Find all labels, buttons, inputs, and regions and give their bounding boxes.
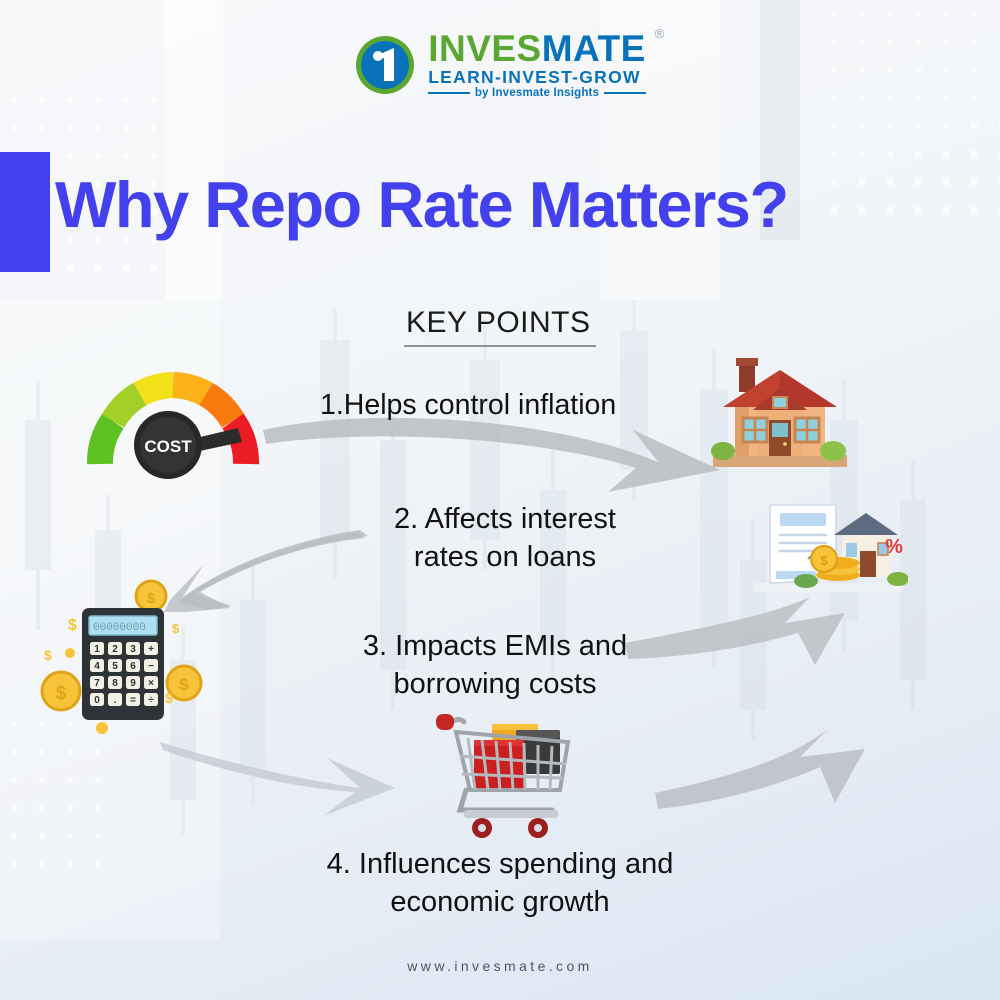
- calculator-key: ÷: [148, 695, 154, 706]
- calculator-key: 0: [94, 695, 100, 706]
- calculator-key: .: [114, 695, 117, 706]
- calculator-key: =: [130, 695, 136, 706]
- calculator-key: 5: [112, 661, 118, 672]
- calculator-key: 9: [130, 678, 136, 689]
- section-heading: KEY POINTS: [406, 306, 591, 340]
- section-heading-underline: [404, 345, 596, 347]
- svg-text:$: $: [56, 683, 67, 704]
- calculator-key: 1: [94, 644, 100, 655]
- svg-text:$: $: [68, 617, 77, 634]
- calculator-icon: $ $ $ $ $ $ $ 00000000: [32, 578, 212, 738]
- cost-gauge-icon: COST: [78, 356, 268, 481]
- title-accent-bar: [0, 152, 50, 272]
- calculator-key: 7: [94, 678, 100, 689]
- shopping-cart-icon: [420, 706, 590, 846]
- calculator-key: 6: [130, 661, 136, 672]
- percent-symbol: %: [885, 536, 903, 558]
- svg-text:$: $: [147, 590, 156, 607]
- calculator-key: +: [148, 644, 154, 655]
- infographic-poster: INVESMATE® LEARN-INVEST-GROW by Invesmat…: [0, 0, 1000, 1000]
- registered-trademark-icon: ®: [655, 27, 665, 40]
- svg-text:$: $: [165, 690, 173, 706]
- page-title: Why Repo Rate Matters?: [55, 167, 788, 242]
- calculator-key: 3: [130, 644, 136, 655]
- svg-text:$: $: [172, 621, 180, 636]
- footer-website-url: www.invesmate.com: [0, 958, 1000, 974]
- logo-subtagline: by Invesmate Insights: [475, 87, 599, 99]
- arrow-right-bottom-icon: [650, 715, 880, 825]
- rule-left: [428, 92, 470, 94]
- gauge-label: COST: [144, 437, 192, 456]
- house-icon: [705, 352, 855, 477]
- brand-logo: INVESMATE® LEARN-INVEST-GROW by Invesmat…: [0, 30, 1000, 99]
- key-point-4-text: 4. Influences spending and economic grow…: [285, 845, 715, 922]
- logo-wordmark: INVESMATE®: [428, 30, 646, 67]
- key-point-1-text: 1.Helps control inflation: [320, 387, 616, 425]
- calculator-key: ×: [148, 678, 154, 689]
- calculator-key: −: [148, 661, 154, 672]
- key-point-2-text: 2. Affects interest rates on loans: [360, 500, 650, 577]
- logo-tagline: LEARN-INVEST-GROW: [428, 67, 646, 87]
- calculator-display: 00000000: [93, 622, 146, 634]
- loan-document-icon: $ %: [748, 495, 908, 600]
- key-point-3-text: 3. Impacts EMIs and borrowing costs: [330, 627, 660, 704]
- calculator-key: 8: [112, 678, 118, 689]
- calculator-key: 4: [94, 661, 100, 672]
- logo-subtagline-row: by Invesmate Insights: [428, 87, 646, 99]
- svg-text:$: $: [820, 553, 828, 568]
- calculator-key: 2: [112, 644, 118, 655]
- arrow-right-to-cart-icon: [155, 730, 405, 840]
- svg-text:$: $: [179, 675, 189, 694]
- logo-wordmark-part1: INVES: [428, 28, 542, 69]
- svg-text:$: $: [44, 647, 52, 663]
- invesmate-logo-icon: [354, 34, 416, 96]
- logo-wordmark-part2: MATE: [542, 28, 646, 69]
- rule-right: [604, 92, 646, 94]
